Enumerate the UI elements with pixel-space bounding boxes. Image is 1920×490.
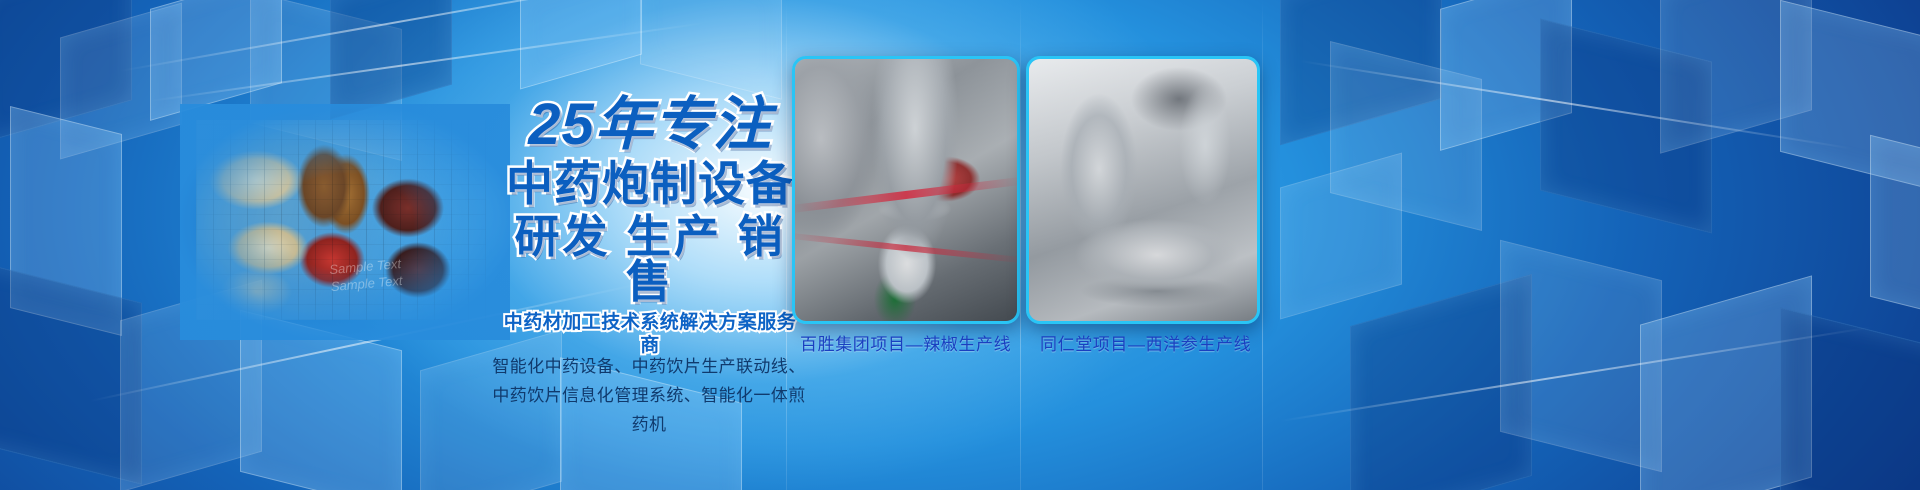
headline-tagline: 中药材加工技术系统解决方案服务商 (500, 312, 800, 358)
pepper-production-line-photo[interactable] (792, 56, 1020, 324)
headline-line-2: 中药炮制设备 (500, 160, 800, 207)
headline-block: 25年专注 中药炮制设备 研发 生产 销售 中药材加工技术系统解决方案服务商 (500, 96, 800, 358)
ginseng-line-caption: 同仁堂项目—西洋参生产线 (1040, 330, 1251, 355)
decorative-shard (1780, 307, 1920, 490)
vertical-divider-stripe (1262, 0, 1263, 490)
decorative-shard (1500, 240, 1662, 472)
herbs-ancient-text-collage (196, 120, 486, 320)
pepper-line-image (795, 59, 1017, 321)
product-description-text: 智能化中药设备、中药饮片生产联动线、中药饮片信息化管理系统、智能化一体煎药机 (484, 352, 814, 439)
pepper-line-caption: 百胜集团项目—辣椒生产线 (800, 330, 1011, 355)
headline-line-3: 研发 生产 销售 (500, 214, 800, 304)
american-ginseng-production-line-photo[interactable] (1026, 56, 1260, 324)
decorative-shard (1280, 153, 1402, 320)
decorative-shard (1870, 135, 1920, 327)
promotional-banner: Sample Text Sample Text 25年专注 中药炮制设备 研发 … (0, 0, 1920, 490)
decorative-shard (240, 310, 402, 490)
headline-line-1: 25年专注 (500, 96, 800, 154)
decorative-shard (640, 0, 782, 100)
ginseng-line-image (1029, 59, 1257, 321)
vertical-divider-stripe (1020, 0, 1021, 490)
